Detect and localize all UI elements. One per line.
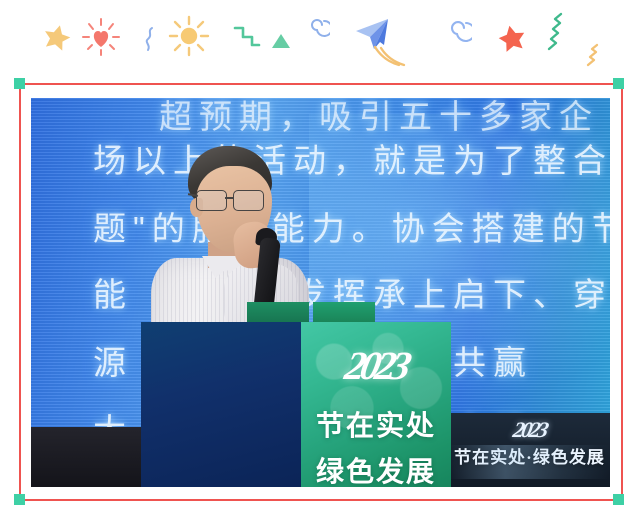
glasses-temple xyxy=(188,193,198,196)
podium-year-logo: 2023 xyxy=(301,342,451,389)
zigzag-gold-icon xyxy=(578,42,602,68)
frame-corner-bottom-right xyxy=(613,494,624,505)
frame-corner-top-left xyxy=(14,78,25,89)
podium-top-panel-right xyxy=(313,302,375,324)
framed-photo-card: 超预期，吸引五十多家企 场以上的活动，就是为了整合 题"的服务能力。协会搭建的节… xyxy=(19,83,623,501)
frame-line-top xyxy=(19,83,623,85)
side-banner-haze xyxy=(449,445,610,479)
heart-burst-icon xyxy=(80,16,122,58)
star-red-icon xyxy=(497,23,527,53)
podium-slogan-line-2: 绿色发展 xyxy=(301,450,451,487)
glasses-lens-left xyxy=(196,190,227,211)
event-photograph: 超预期，吸引五十多家企 场以上的活动，就是为了整合 题"的服务能力。协会搭建的节… xyxy=(31,98,610,487)
frame-corner-bottom-left xyxy=(14,494,25,505)
led-text-line-1: 超预期，吸引五十多家企 xyxy=(159,98,599,138)
side-banner-year-logo: 2023 xyxy=(449,417,610,443)
podium-slogan-line-1: 节在实处 xyxy=(301,404,451,444)
paper-plane-icon xyxy=(350,15,412,71)
spiral-blue-large-icon xyxy=(444,18,472,48)
podium-top-panel-left xyxy=(247,302,309,324)
podium-panel-left xyxy=(141,322,301,487)
zigzag-green-icon xyxy=(233,25,261,49)
triangle-green-icon xyxy=(270,32,292,50)
glasses-icon xyxy=(192,190,276,210)
frame-corner-top-right xyxy=(613,78,624,89)
spiral-blue-small-icon xyxy=(306,16,330,44)
side-banner: 2023 节在实处·绿色发展 xyxy=(449,413,610,487)
star-gold-icon xyxy=(42,22,72,52)
sun-icon xyxy=(167,14,211,58)
podium: 2023 节在实处 绿色发展 xyxy=(141,322,451,487)
frame-line-right xyxy=(621,83,623,501)
frame-line-bottom xyxy=(19,499,623,501)
squiggle-blue-icon xyxy=(143,26,157,52)
podium-panel-right: 2023 节在实处 绿色发展 xyxy=(301,322,451,487)
decoration-strip xyxy=(0,0,635,78)
zigzag-teal-icon xyxy=(539,11,567,53)
glasses-bridge xyxy=(225,197,234,199)
glasses-lens-right xyxy=(233,190,264,211)
frame-line-left xyxy=(19,83,21,501)
